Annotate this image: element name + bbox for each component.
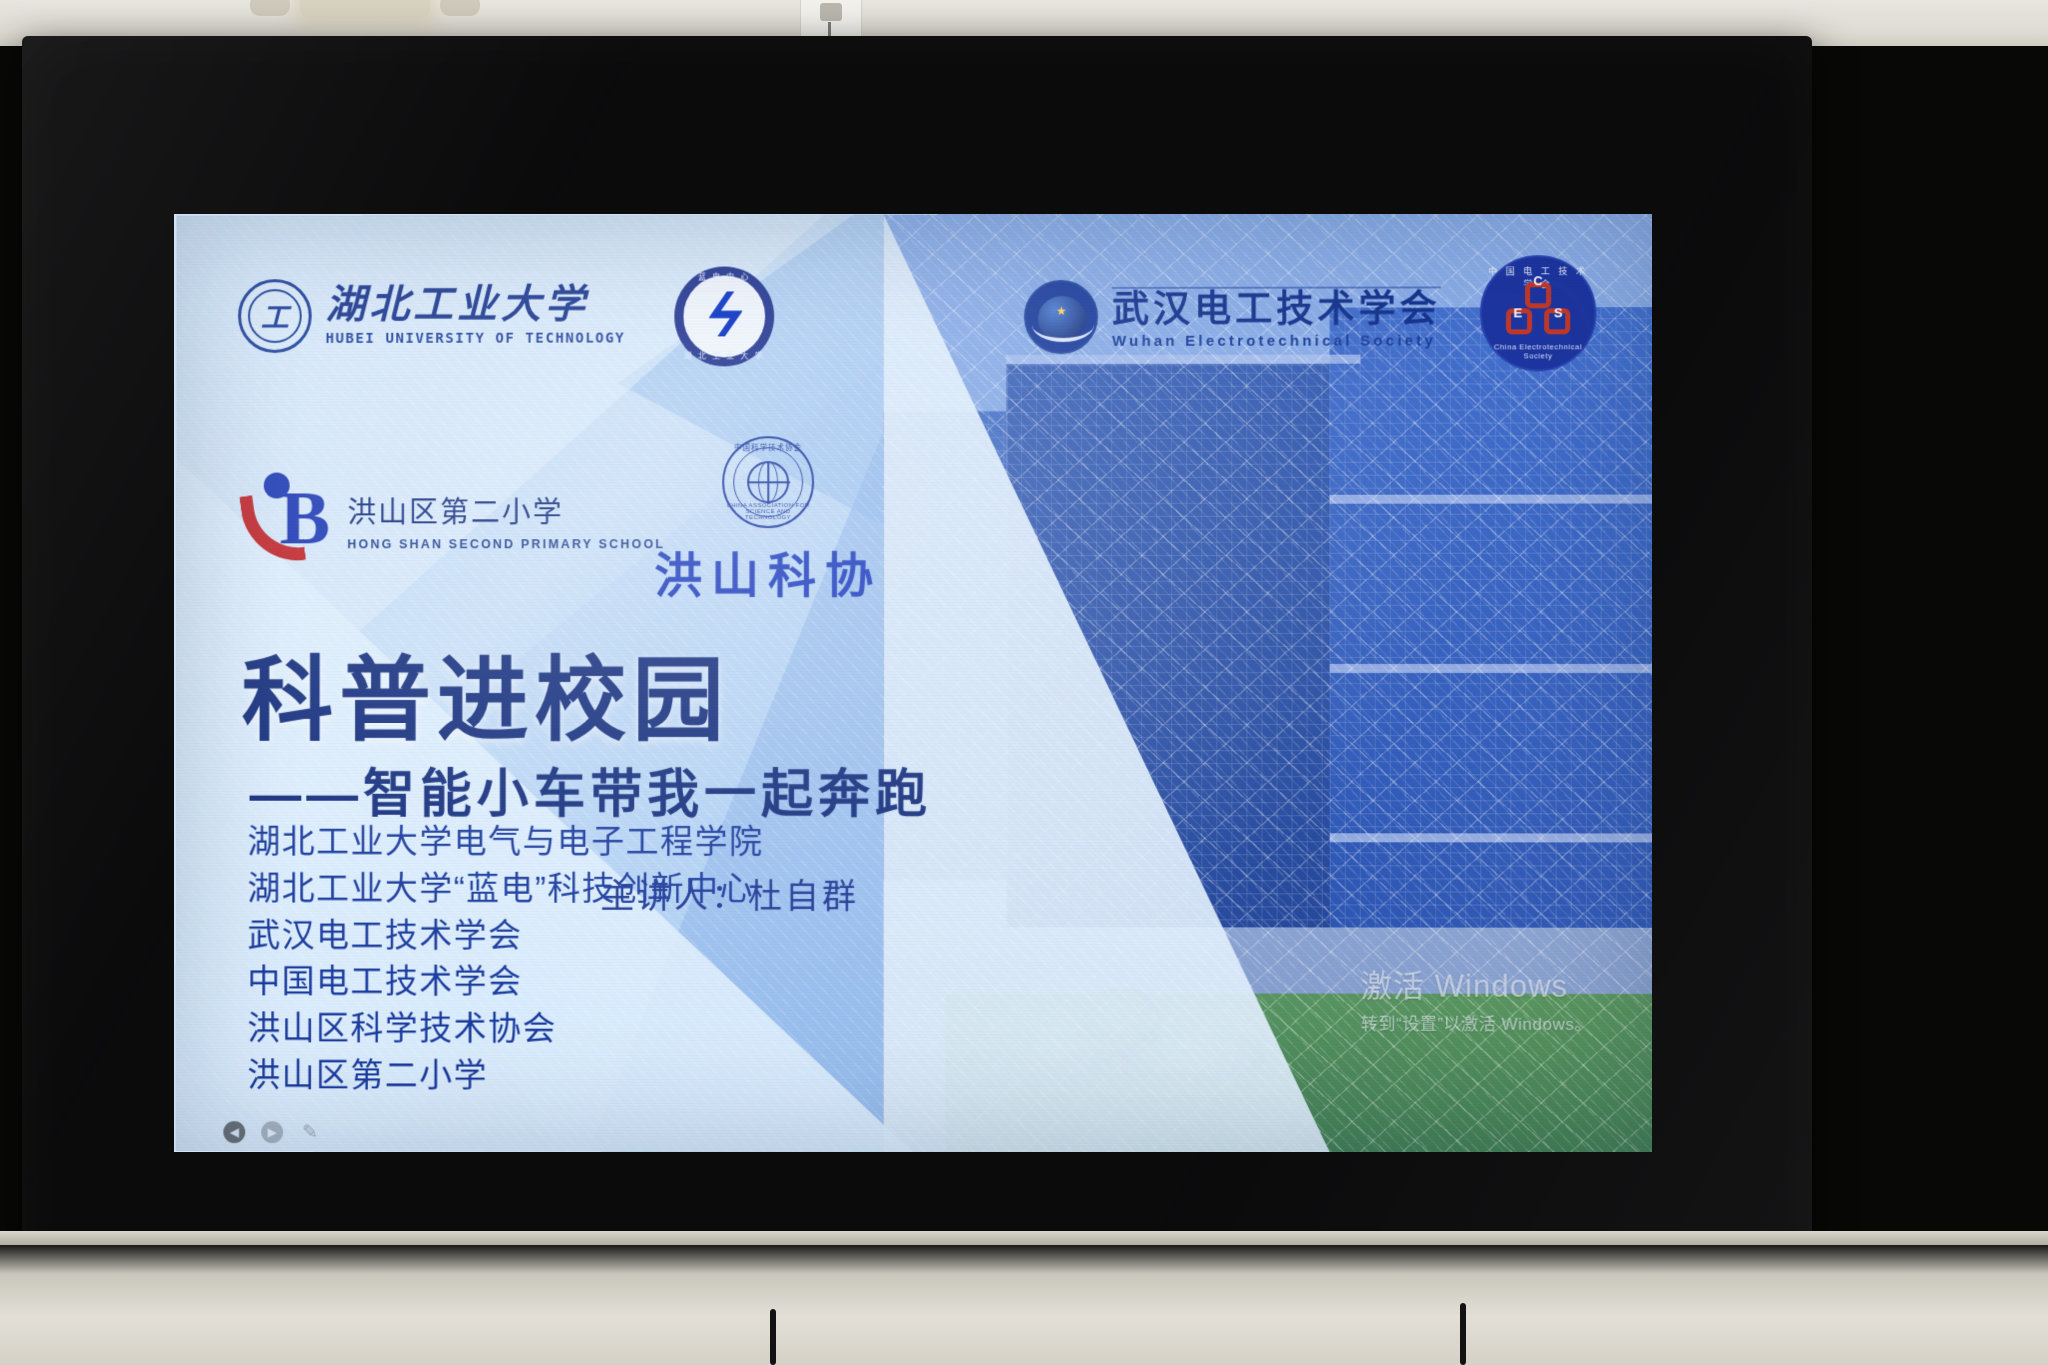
logo-row-secondary: B 洪山区第二小学 HONG SHAN SECOND PRIMARY SCHOO…: [176, 451, 1652, 602]
organizer-item: 洪山区第二小学: [247, 1052, 763, 1100]
hut-seal-glyph: 工: [241, 282, 309, 350]
hs2-mark-letter: B: [280, 486, 331, 550]
logo-hongshan-second-primary-school: B 洪山区第二小学 HONG SHAN SECOND PRIMARY SCHOO…: [242, 470, 665, 570]
smart-tv: 工 湖北工业大学 HUBEI UNIVERSITY OF TECHNOLOGY …: [22, 36, 1812, 1326]
organizer-item: 湖北工业大学电气与电子工程学院: [248, 819, 764, 866]
hskx-wordmark: 洪山科协: [654, 536, 882, 606]
power-cable-right: [1460, 1303, 1466, 1365]
classroom-scene: 工 湖北工业大学 HUBEI UNIVERSITY OF TECHNOLOGY …: [0, 0, 2048, 1365]
ces-letter-c: C: [1533, 273, 1542, 288]
ces-letter-e: E: [1514, 305, 1523, 320]
watermark-line-2: 转到“设置”以激活 Windows。: [1361, 1010, 1592, 1035]
power-cable-left: [770, 1309, 776, 1365]
logo-hubei-university-of-technology: 工 湖北工业大学 HUBEI UNIVERSITY OF TECHNOLOGY: [238, 279, 625, 353]
ces-arc-bottom: China Electrotechnical Society: [1482, 342, 1594, 360]
presentation-slide[interactable]: 工 湖北工业大学 HUBEI UNIVERSITY OF TECHNOLOGY …: [176, 214, 1652, 1152]
hut-seal-icon: 工: [238, 279, 312, 353]
logo-china-electrotechnical-society: 中 国 电 工 技 术 学 会 C E S China Electrotechn…: [1480, 255, 1597, 371]
hskx-seal-bottom-label: CHINA ASSOCIATION FOR SCIENCE AND TECHNO…: [724, 503, 812, 521]
tv-screen[interactable]: 工 湖北工业大学 HUBEI UNIVERSITY OF TECHNOLOGY …: [174, 214, 1652, 1152]
logo-wuhan-electrotechnical-society: ★ 武汉电工技术学会 Wuhan Electrotechnical Societ…: [1024, 279, 1441, 354]
ces-letter-s: S: [1554, 305, 1563, 320]
organizer-item: 武汉电工技术学会: [247, 912, 763, 959]
hs2-name-en: HONG SHAN SECOND PRIMARY SCHOOL: [347, 537, 665, 551]
hongshan-school-mark-icon: B: [242, 471, 334, 571]
slideshow-controls[interactable]: ◀ ▶ ✎: [223, 1121, 321, 1143]
ceiling-light: [300, 0, 430, 18]
wes-name-cn: 武汉电工技术学会: [1112, 291, 1441, 330]
organizer-item: 湖北工业大学“蓝电”科技创新中心: [247, 865, 763, 912]
slide-title: 科普进校园: [242, 654, 932, 750]
hut-name-en: HUBEI UNIVERSITY OF TECHNOLOGY: [326, 331, 626, 347]
next-slide-icon[interactable]: ▶: [261, 1121, 283, 1143]
logo-lan-dian-center: 蓝 电 中 心 ϟ 湖 北 工 业 大 学: [674, 266, 774, 366]
slide-subtitle: ——智能小车带我一起奔跑: [242, 752, 932, 827]
organizer-item: 洪山区科学技术协会: [247, 1006, 763, 1053]
hs2-name-cn: 洪山区第二小学: [347, 489, 665, 531]
ces-badge-icon: 中 国 电 工 技 术 学 会 C E S China Electrotechn…: [1480, 255, 1597, 371]
cast-globe-seal-icon: 中国科学技术协会 CHINA ASSOCIATION FOR SCIENCE A…: [722, 436, 814, 528]
hut-name-cn: 湖北工业大学: [326, 285, 626, 325]
bolt-ring-top-label: 蓝 电 中 心: [674, 271, 774, 282]
pen-tool-icon[interactable]: ✎: [299, 1121, 321, 1143]
logo-row-primary: 工 湖北工业大学 HUBEI UNIVERSITY OF TECHNOLOGY …: [176, 259, 1652, 391]
ceiling-light-small-right: [440, 0, 480, 16]
organizer-item: 中国电工技术学会: [247, 959, 763, 1006]
wes-name-en: Wuhan Electrotechnical Society: [1112, 332, 1441, 349]
ceiling-light-small-left: [250, 0, 290, 16]
bolt-ring-bottom-label: 湖 北 工 业 大 学: [674, 350, 774, 361]
watermark-line-1: 激活 Windows: [1361, 961, 1592, 1006]
hskx-seal-top-label: 中国科学技术协会: [724, 442, 812, 453]
wall-outlet: [800, 0, 862, 40]
logo-hongshan-science-association: 中国科学技术协会 CHINA ASSOCIATION FOR SCIENCE A…: [654, 436, 882, 606]
wes-seal-icon: ★: [1024, 280, 1098, 354]
wall-lower: [0, 1245, 2048, 1365]
windows-activation-watermark: 激活 Windows 转到“设置”以激活 Windows。: [1361, 961, 1592, 1035]
organizer-list: 湖北工业大学电气与电子工程学院 湖北工业大学“蓝电”科技创新中心 武汉电工技术学…: [247, 819, 763, 1100]
previous-slide-icon[interactable]: ◀: [223, 1121, 245, 1143]
lightning-bolt-icon: 蓝 电 中 心 ϟ 湖 北 工 业 大 学: [674, 266, 774, 366]
bolt-glyph: ϟ: [703, 285, 744, 347]
